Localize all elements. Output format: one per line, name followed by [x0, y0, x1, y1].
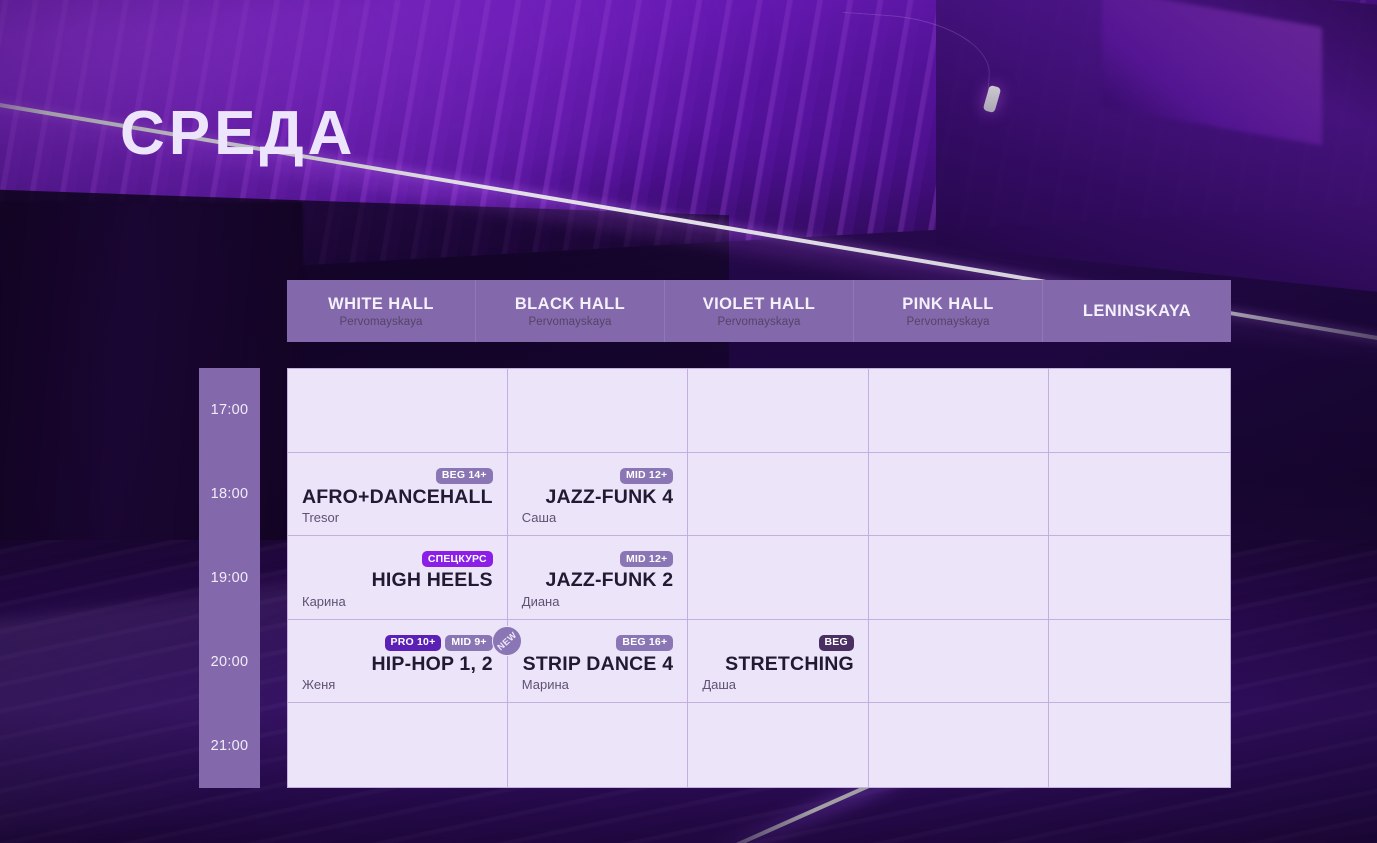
halls-header: WHITE HALLPervomayskayaBLACK HALLPervoma…	[287, 280, 1231, 342]
level-badge: PRO 10+	[385, 635, 442, 651]
class-teacher: Марина	[522, 677, 674, 692]
class-card[interactable]: MID 12+JAZZ-FUNK 2Диана	[508, 536, 689, 620]
class-title: JAZZ-FUNK 2	[545, 570, 673, 590]
hall-subtitle: Pervomayskaya	[339, 316, 422, 328]
level-badge: MID 9+	[445, 635, 492, 651]
class-title: HIGH HEELS	[372, 570, 493, 590]
empty-cell	[1049, 369, 1230, 453]
hall-header-2[interactable]: BLACK HALLPervomayskaya	[476, 280, 665, 342]
time-label-2100: 21:00	[199, 704, 260, 788]
hall-name: PINK HALL	[902, 295, 994, 314]
class-title-row: JAZZ-FUNK 4	[522, 487, 674, 507]
time-label-2000: 20:00	[199, 620, 260, 704]
empty-cell	[508, 703, 689, 787]
time-label-1700: 17:00	[199, 368, 260, 452]
empty-cell	[288, 703, 508, 787]
empty-cell	[1049, 453, 1230, 537]
level-badge: BEG 14+	[436, 468, 493, 484]
hall-subtitle: Pervomayskaya	[528, 316, 611, 328]
class-title: HIP-HOP 1, 2	[372, 654, 493, 674]
hall-name: BLACK HALL	[515, 295, 625, 314]
hall-header-5[interactable]: LENINSKAYA	[1043, 280, 1231, 342]
badge-group: BEG 14+	[302, 468, 493, 484]
schedule-grid: BEG 14+AFRO+DANCEHALLTresorMID 12+JAZZ-F…	[287, 368, 1231, 788]
empty-cell	[1049, 620, 1230, 704]
empty-cell	[869, 620, 1050, 704]
class-title-row: STRETCHING	[702, 654, 854, 674]
class-teacher: Женя	[302, 677, 493, 692]
hall-header-1[interactable]: WHITE HALLPervomayskaya	[287, 280, 476, 342]
class-teacher: Tresor	[302, 510, 493, 525]
empty-cell	[1049, 536, 1230, 620]
hall-subtitle: Pervomayskaya	[717, 316, 800, 328]
class-title: AFRO+DANCEHALL	[302, 487, 493, 507]
level-badge: BEG 16+	[616, 635, 673, 651]
class-teacher: Даша	[702, 677, 854, 692]
empty-cell	[869, 453, 1050, 537]
empty-cell	[508, 369, 689, 453]
empty-cell	[1049, 703, 1230, 787]
empty-cell	[869, 536, 1050, 620]
time-label-1800: 18:00	[199, 452, 260, 536]
hall-name: WHITE HALL	[328, 295, 434, 314]
empty-cell	[869, 703, 1050, 787]
empty-cell	[869, 369, 1050, 453]
badge-group: BEG 16+	[522, 635, 674, 651]
empty-cell	[688, 536, 869, 620]
time-label-1900: 19:00	[199, 536, 260, 620]
class-card[interactable]: NEWBEG 16+STRIP DANCE 4Марина	[508, 620, 689, 704]
class-teacher: Саша	[522, 510, 674, 525]
class-teacher: Карина	[302, 594, 493, 609]
class-title-row: JAZZ-FUNK 2	[522, 570, 674, 590]
empty-cell	[688, 369, 869, 453]
class-teacher: Диана	[522, 594, 674, 609]
level-badge: MID 12+	[620, 468, 673, 484]
hall-name: VIOLET HALL	[703, 295, 816, 314]
hall-header-3[interactable]: VIOLET HALLPervomayskaya	[665, 280, 854, 342]
class-title-row: HIP-HOP 1, 2	[302, 654, 493, 674]
class-title-row: STRIP DANCE 4	[522, 654, 674, 674]
class-card[interactable]: PRO 10+MID 9+HIP-HOP 1, 2Женя	[288, 620, 508, 704]
class-card[interactable]: СПЕЦКУРСHIGH HEELSКарина	[288, 536, 508, 620]
level-badge: BEG	[819, 635, 854, 651]
empty-cell	[288, 369, 508, 453]
class-card[interactable]: BEGSTRETCHINGДаша	[688, 620, 869, 704]
hall-subtitle: Pervomayskaya	[906, 316, 989, 328]
class-title: JAZZ-FUNK 4	[545, 487, 673, 507]
class-card[interactable]: MID 12+JAZZ-FUNK 4Саша	[508, 453, 689, 537]
badge-group: MID 12+	[522, 468, 674, 484]
badge-group: СПЕЦКУРС	[302, 551, 493, 567]
badge-group: MID 12+	[522, 551, 674, 567]
empty-cell	[688, 703, 869, 787]
class-title-row: AFRO+DANCEHALL	[302, 487, 493, 507]
class-title: STRIP DANCE 4	[523, 654, 674, 674]
level-badge: СПЕЦКУРС	[422, 551, 493, 567]
level-badge: MID 12+	[620, 551, 673, 567]
class-title: STRETCHING	[725, 654, 854, 674]
page-title: СРЕДА	[120, 103, 356, 165]
class-title-row: HIGH HEELS	[302, 570, 493, 590]
hall-header-4[interactable]: PINK HALLPervomayskaya	[854, 280, 1043, 342]
empty-cell	[688, 453, 869, 537]
time-column: 17:0018:0019:0020:0021:00	[199, 368, 260, 788]
badge-group: BEG	[702, 635, 854, 651]
hall-name: LENINSKAYA	[1083, 302, 1191, 321]
badge-group: PRO 10+MID 9+	[302, 635, 493, 651]
class-card[interactable]: BEG 14+AFRO+DANCEHALLTresor	[288, 453, 508, 537]
